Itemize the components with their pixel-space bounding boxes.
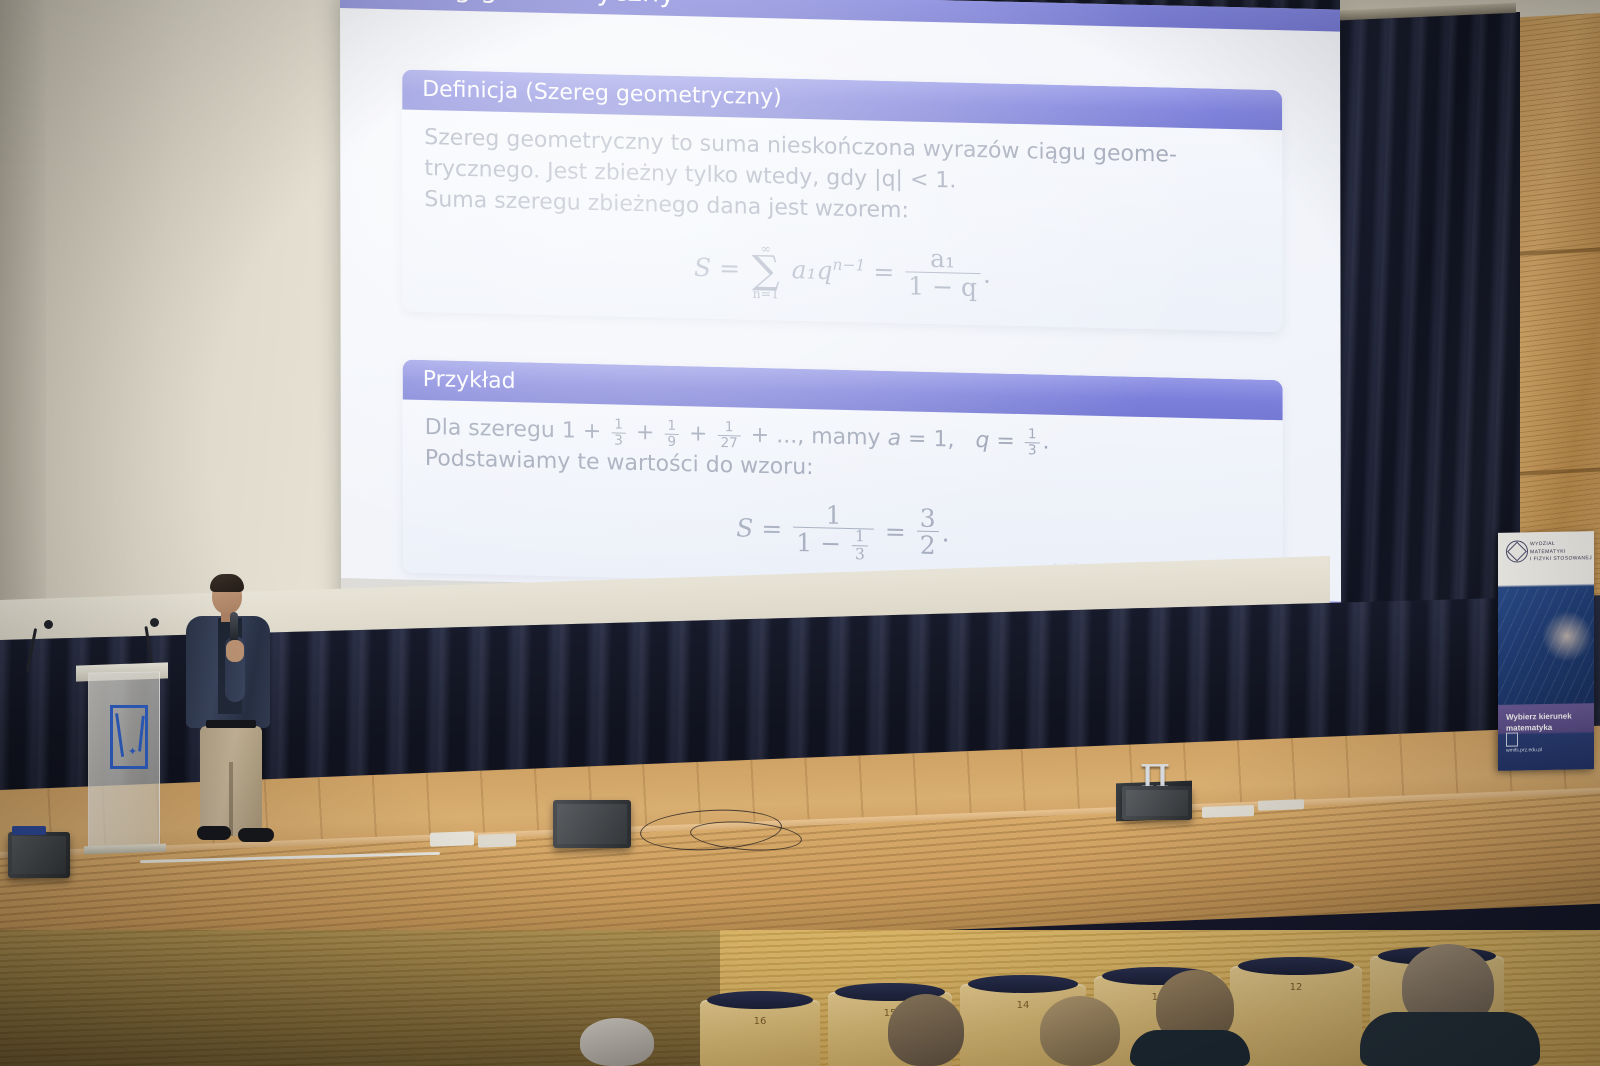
power-strip (430, 831, 474, 847)
seat-number: 12 (1230, 982, 1362, 993)
sum-lower-limit: n=1 (752, 286, 780, 300)
pi-sculpture-icon: π (1134, 756, 1176, 788)
speaker-hair (210, 574, 244, 592)
monitor-grille (1126, 790, 1188, 816)
block-przyklad: Przykład Dla szeregu 1 + 13 + 19 + 127 +… (403, 359, 1283, 592)
audience-head (580, 1018, 654, 1066)
blue-card-on-monitor (12, 826, 46, 835)
result-final-den: 2 (917, 532, 939, 560)
audience-head (1040, 996, 1120, 1066)
banner-cta: Wybierz kierunek matematyka (1506, 712, 1572, 735)
result-lhs: S (736, 513, 753, 542)
result-den: 1 − 13 (793, 528, 874, 563)
floor-monitor-right (1122, 786, 1192, 820)
example-q-value: 13 (1025, 428, 1040, 458)
floor-item-right (1202, 805, 1254, 818)
formula-period: . (983, 259, 991, 288)
monitor-grille (12, 836, 66, 874)
formula-equals-2: = (873, 257, 894, 286)
floor-monitor-left (8, 832, 70, 878)
formula-exponent: n−1 (833, 255, 866, 274)
speaker-shoe-left (197, 826, 231, 840)
audience-torso (1360, 1012, 1540, 1066)
logo-cross-icon: ✦ (128, 748, 137, 757)
definicja-formula: S = ∞ ∑ n=1 a₁qn−1 = a₁ 1 − q . (424, 234, 1260, 312)
example-term-3: 19 (664, 419, 679, 449)
monitor-grille (557, 804, 627, 844)
summation-operator: ∞ ∑ n=1 (752, 241, 780, 300)
result-num: 1 (793, 501, 874, 529)
result-equals-2: = (885, 517, 906, 546)
result-final-num: 3 (917, 506, 939, 533)
floor-monitor-center (553, 800, 631, 848)
speaker-leg-seam (229, 762, 233, 836)
floor-item-right-2 (1258, 799, 1304, 811)
microphone-capsule-right (150, 618, 159, 627)
rollup-banner: WYDZIAŁ MATEMATYKI I FIZYKI STOSOWANEJ W… (1498, 531, 1594, 771)
block-definicja: Definicja (Szereg geometryczny) Szereg g… (402, 69, 1282, 331)
formula-fraction: a₁ 1 − q (905, 246, 980, 301)
example-term-2: 13 (611, 418, 626, 448)
example-term-4: 127 (717, 421, 740, 451)
audience-torso (1130, 1030, 1250, 1066)
wall-shadow (0, 0, 46, 700)
seat: 16 (700, 1000, 820, 1066)
speaker-shoe-right (238, 828, 274, 842)
banner-faculty-text: WYDZIAŁ MATEMATYKI I FIZYKI STOSOWANEJ (1530, 540, 1592, 564)
fraction-denominator: 1 − q (905, 272, 980, 301)
power-strip-2 (478, 833, 516, 847)
formula-term: a₁q (792, 255, 833, 285)
result-final-fraction: 3 2 (917, 506, 939, 560)
faculty-emblem-icon (1506, 540, 1528, 562)
sigma-icon: ∑ (752, 255, 780, 287)
result-period: . (942, 518, 950, 547)
speaker-hand (226, 640, 244, 662)
result-equals-1: = (761, 514, 782, 543)
speaker-belt (206, 720, 256, 728)
seat-number: 16 (700, 1016, 820, 1027)
banner-photo-image (1498, 587, 1594, 705)
audience-head (888, 994, 964, 1066)
block-definicja-body: Szereg geometryczny to suma nieskończona… (402, 109, 1282, 331)
result-fraction: 1 1 − 13 (793, 501, 874, 563)
banner-url: wmifs.prz.edu.pl (1506, 747, 1542, 754)
microphone-capsule-left (44, 620, 53, 629)
university-logo-icon (1506, 732, 1518, 746)
formula-equals-1: = (719, 253, 740, 282)
banner-cta-line-1: Wybierz kierunek (1506, 712, 1572, 724)
fraction-numerator: a₁ (905, 246, 980, 274)
seat: 12 (1230, 966, 1362, 1066)
formula-lhs: S (694, 253, 711, 282)
prz-logo-icon (110, 705, 148, 769)
lecture-hall-photo: Szereg geometryczny Definicja (Szereg ge… (0, 0, 1600, 1066)
faculty-line-3: I FIZYKI STOSOWANEJ (1530, 555, 1592, 564)
